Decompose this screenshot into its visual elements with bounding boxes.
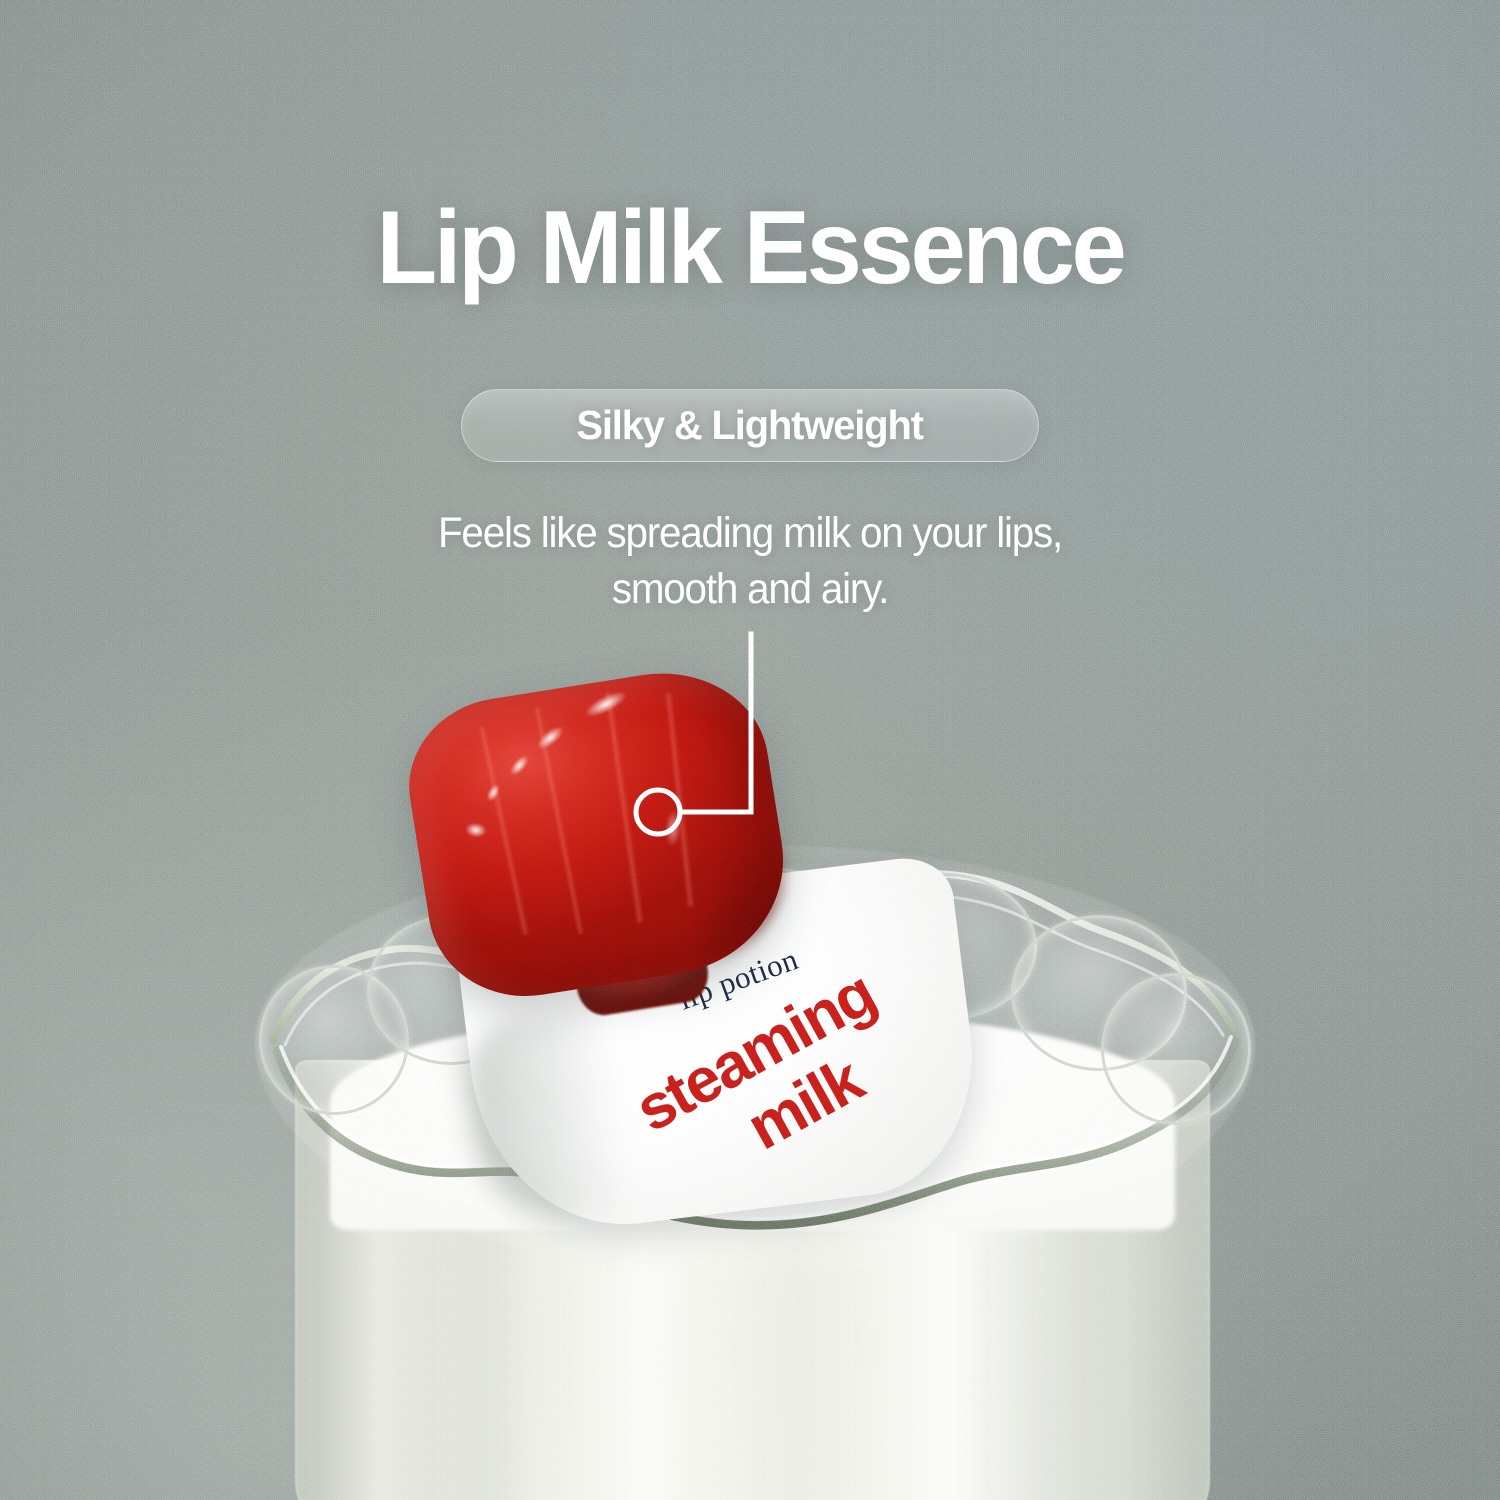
feature-badge-label: Silky & Lightweight bbox=[577, 402, 924, 449]
subtitle: Feels like spreading milk on your lips, … bbox=[45, 506, 1455, 618]
subtitle-line-1: Feels like spreading milk on your lips, bbox=[45, 506, 1455, 562]
feature-badge-row: Silky & Lightweight bbox=[0, 389, 1500, 462]
product-promo-image: lip potion steaming milk Lip Milk Essenc… bbox=[0, 0, 1500, 1500]
page-title: Lip Milk Essence bbox=[34, 196, 1467, 300]
subtitle-line-2: smooth and airy. bbox=[45, 562, 1455, 618]
feature-badge: Silky & Lightweight bbox=[461, 389, 1039, 462]
